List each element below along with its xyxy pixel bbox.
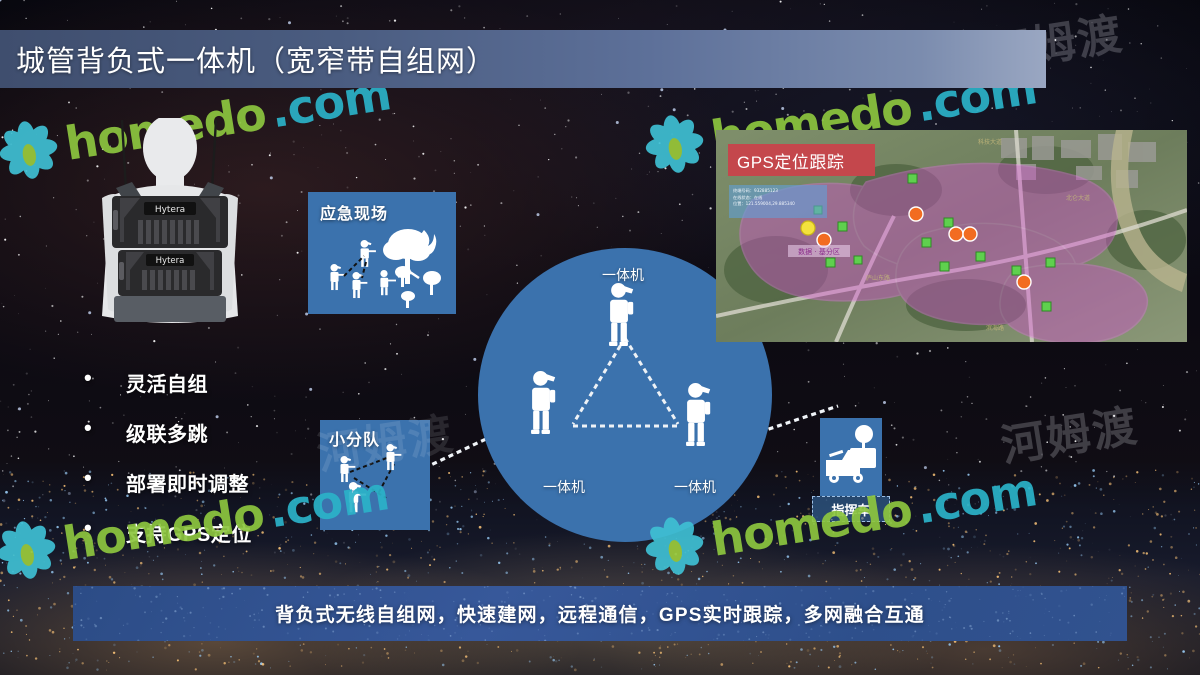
- map-inline-label: 数据 · 基分区: [798, 247, 840, 256]
- node-person-right-icon: [686, 383, 710, 446]
- svg-text:北仑大道: 北仑大道: [1066, 194, 1090, 202]
- gps-info-popup: 终端号码：932885123 在线状态：在线 位置：121.559004,29.…: [729, 185, 827, 218]
- map-marker-yellow: [801, 221, 815, 235]
- gps-badge-label: GPS定位跟踪: [728, 148, 844, 173]
- satellite-dish-icon: [855, 425, 873, 443]
- summary-banner: 背负式无线自组网，快速建网，远程通信，GPS实时跟踪，多网融合互通: [73, 586, 1127, 641]
- node-label-left: 一体机: [543, 477, 585, 497]
- summary-banner-text: 背负式无线自组网，快速建网，远程通信，GPS实时跟踪，多网融合互通: [275, 600, 925, 627]
- gps-tracking-badge: GPS定位跟踪: [728, 144, 875, 176]
- svg-text:庐山东路: 庐山东路: [866, 274, 890, 282]
- gps-info-line: 位置：121.559004,29.885340: [733, 201, 823, 208]
- svg-text:科技大道: 科技大道: [978, 138, 1002, 146]
- svg-text:滨海路: 滨海路: [986, 324, 1004, 332]
- node-person-top-icon: [609, 283, 633, 346]
- command-vehicle-label: 指挥车: [812, 496, 890, 522]
- panel-command-vehicle: [820, 418, 882, 496]
- command-vehicle-illustration: [820, 418, 882, 496]
- node-label-top: 一体机: [602, 265, 644, 285]
- node-label-right: 一体机: [674, 477, 716, 497]
- node-person-left-icon: [531, 371, 555, 434]
- slide-canvas: homedo .com 河姆渡 homedo .com 河姆渡 城管背负式一体机…: [0, 0, 1200, 675]
